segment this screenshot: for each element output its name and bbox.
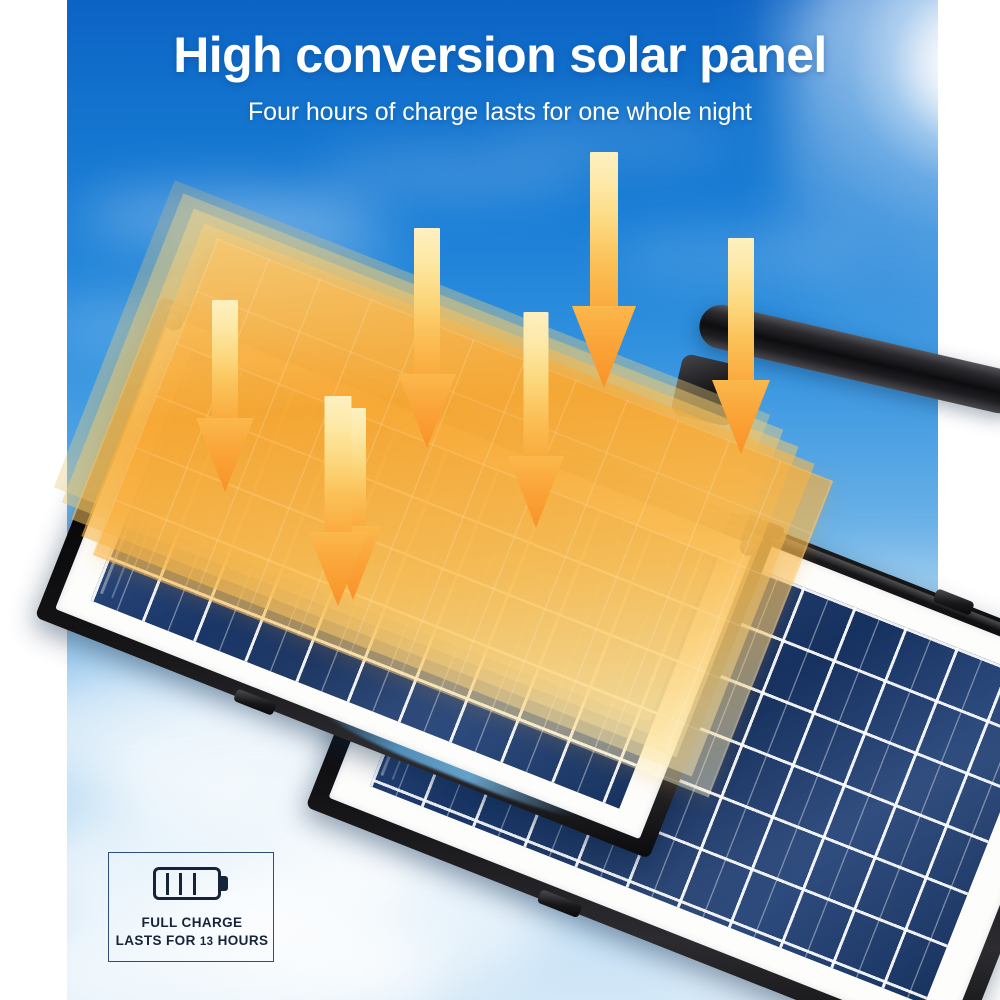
sun-ray bbox=[769, 0, 938, 613]
battery-segment bbox=[184, 873, 197, 895]
badge-line-2: LASTS FOR 13 HOURS bbox=[109, 933, 275, 948]
battery-segment bbox=[170, 873, 183, 895]
battery-segment bbox=[197, 873, 210, 895]
cloud bbox=[317, 150, 587, 196]
page-title: High conversion solar panel bbox=[0, 26, 1000, 84]
battery-full-icon bbox=[109, 867, 275, 907]
badge-line-2-prefix: LASTS FOR bbox=[116, 933, 200, 948]
badge-line-2-suffix: HOURS bbox=[213, 933, 268, 948]
battery-segment bbox=[156, 873, 169, 895]
badge-line-1: FULL CHARGE bbox=[109, 915, 275, 930]
full-charge-badge: FULL CHARGE LASTS FOR 13 HOURS bbox=[108, 852, 274, 962]
cloud bbox=[177, 225, 407, 269]
product-banner: High conversion solar panel Four hours o… bbox=[0, 0, 1000, 1000]
page-subtitle: Four hours of charge lasts for one whole… bbox=[0, 98, 1000, 127]
badge-hours-number: 13 bbox=[200, 936, 214, 948]
battery-body bbox=[153, 867, 221, 900]
battery-terminal bbox=[221, 876, 228, 891]
cloud bbox=[607, 232, 857, 276]
